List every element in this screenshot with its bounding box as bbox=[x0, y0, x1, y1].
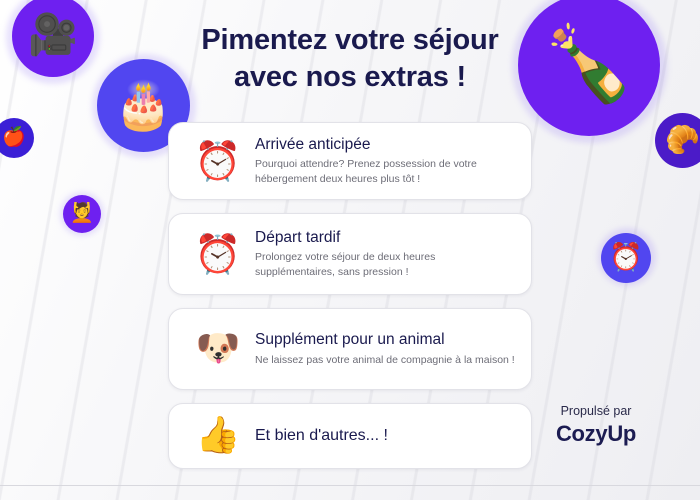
alarm-clock-emoji: ⏰ bbox=[609, 244, 643, 271]
red-apple-bubble: 🍎 bbox=[0, 118, 34, 158]
croissant-bubble: 🥐 bbox=[655, 113, 700, 168]
thumbs-up-emoji: 👍 bbox=[187, 418, 249, 454]
massage-emoji: 💆 bbox=[70, 204, 94, 223]
dog-face-emoji: 🐶 bbox=[187, 331, 249, 367]
extra-card-description: Prolongez votre séjour de deux heures su… bbox=[255, 250, 515, 280]
powered-by-label: Propulsé par bbox=[506, 404, 686, 419]
page-title: Pimentez votre séjour avec nos extras ! bbox=[120, 22, 580, 95]
extra-card-text: Et bien d'autres... ! bbox=[249, 426, 515, 446]
page-title-line-1: Pimentez votre séjour bbox=[120, 22, 580, 59]
extra-card-late-departure[interactable]: ⏰ Départ tardif Prolongez votre séjour d… bbox=[168, 213, 532, 295]
extra-card-title: Arrivée anticipée bbox=[255, 135, 515, 154]
movie-camera-emoji: 🎥 bbox=[28, 15, 78, 55]
extra-card-title: Départ tardif bbox=[255, 228, 515, 247]
cozyup-logo: CozyUp bbox=[506, 422, 686, 446]
extra-card-text: Départ tardif Prolongez votre séjour de … bbox=[249, 228, 515, 281]
extra-card-early-arrival[interactable]: ⏰ Arrivée anticipée Pourquoi attendre? P… bbox=[168, 122, 532, 200]
extra-card-many-more[interactable]: 👍 Et bien d'autres... ! bbox=[168, 403, 532, 469]
red-apple-emoji: 🍎 bbox=[2, 128, 26, 147]
extra-card-description: Pourquoi attendre? Prenez possession de … bbox=[255, 157, 515, 187]
bottom-divider bbox=[0, 485, 700, 486]
extra-card-description: Ne laissez pas votre animal de compagnie… bbox=[255, 353, 515, 368]
alarm-clock-gold-emoji: ⏰ bbox=[187, 235, 249, 273]
extra-card-title: Supplément pour un animal bbox=[255, 330, 515, 349]
massage-bubble: 💆 bbox=[63, 195, 101, 233]
extra-card-title: Et bien d'autres... ! bbox=[255, 426, 515, 446]
extra-card-text: Arrivée anticipée Pourquoi attendre? Pre… bbox=[249, 135, 515, 188]
promo-slide: 🎥 🎂 🍎 💆 🍾 🥐 ⏰ Pimentez votre séjour avec… bbox=[0, 0, 700, 500]
extras-list: ⏰ Arrivée anticipée Pourquoi attendre? P… bbox=[168, 122, 532, 482]
page-title-line-2: avec nos extras ! bbox=[120, 59, 580, 96]
brand-footer: Propulsé par CozyUp bbox=[506, 404, 686, 446]
croissant-emoji: 🥐 bbox=[665, 126, 700, 154]
extra-card-text: Supplément pour un animal Ne laissez pas… bbox=[249, 330, 515, 368]
extra-card-pet-supplement[interactable]: 🐶 Supplément pour un animal Ne laissez p… bbox=[168, 308, 532, 390]
alarm-clock-red-emoji: ⏰ bbox=[187, 142, 249, 180]
alarm-clock-bubble: ⏰ bbox=[601, 233, 651, 283]
